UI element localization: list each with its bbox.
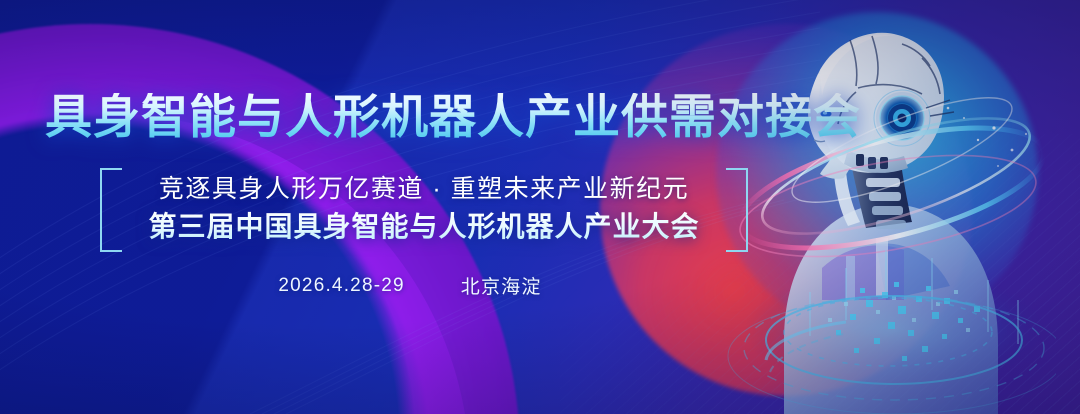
event-banner: 具身智能与人形机器人产业供需对接会 竞逐具身人形万亿赛道 · 重塑未来产业新纪元… [0, 0, 1080, 414]
vignette-overlay [0, 0, 1080, 414]
